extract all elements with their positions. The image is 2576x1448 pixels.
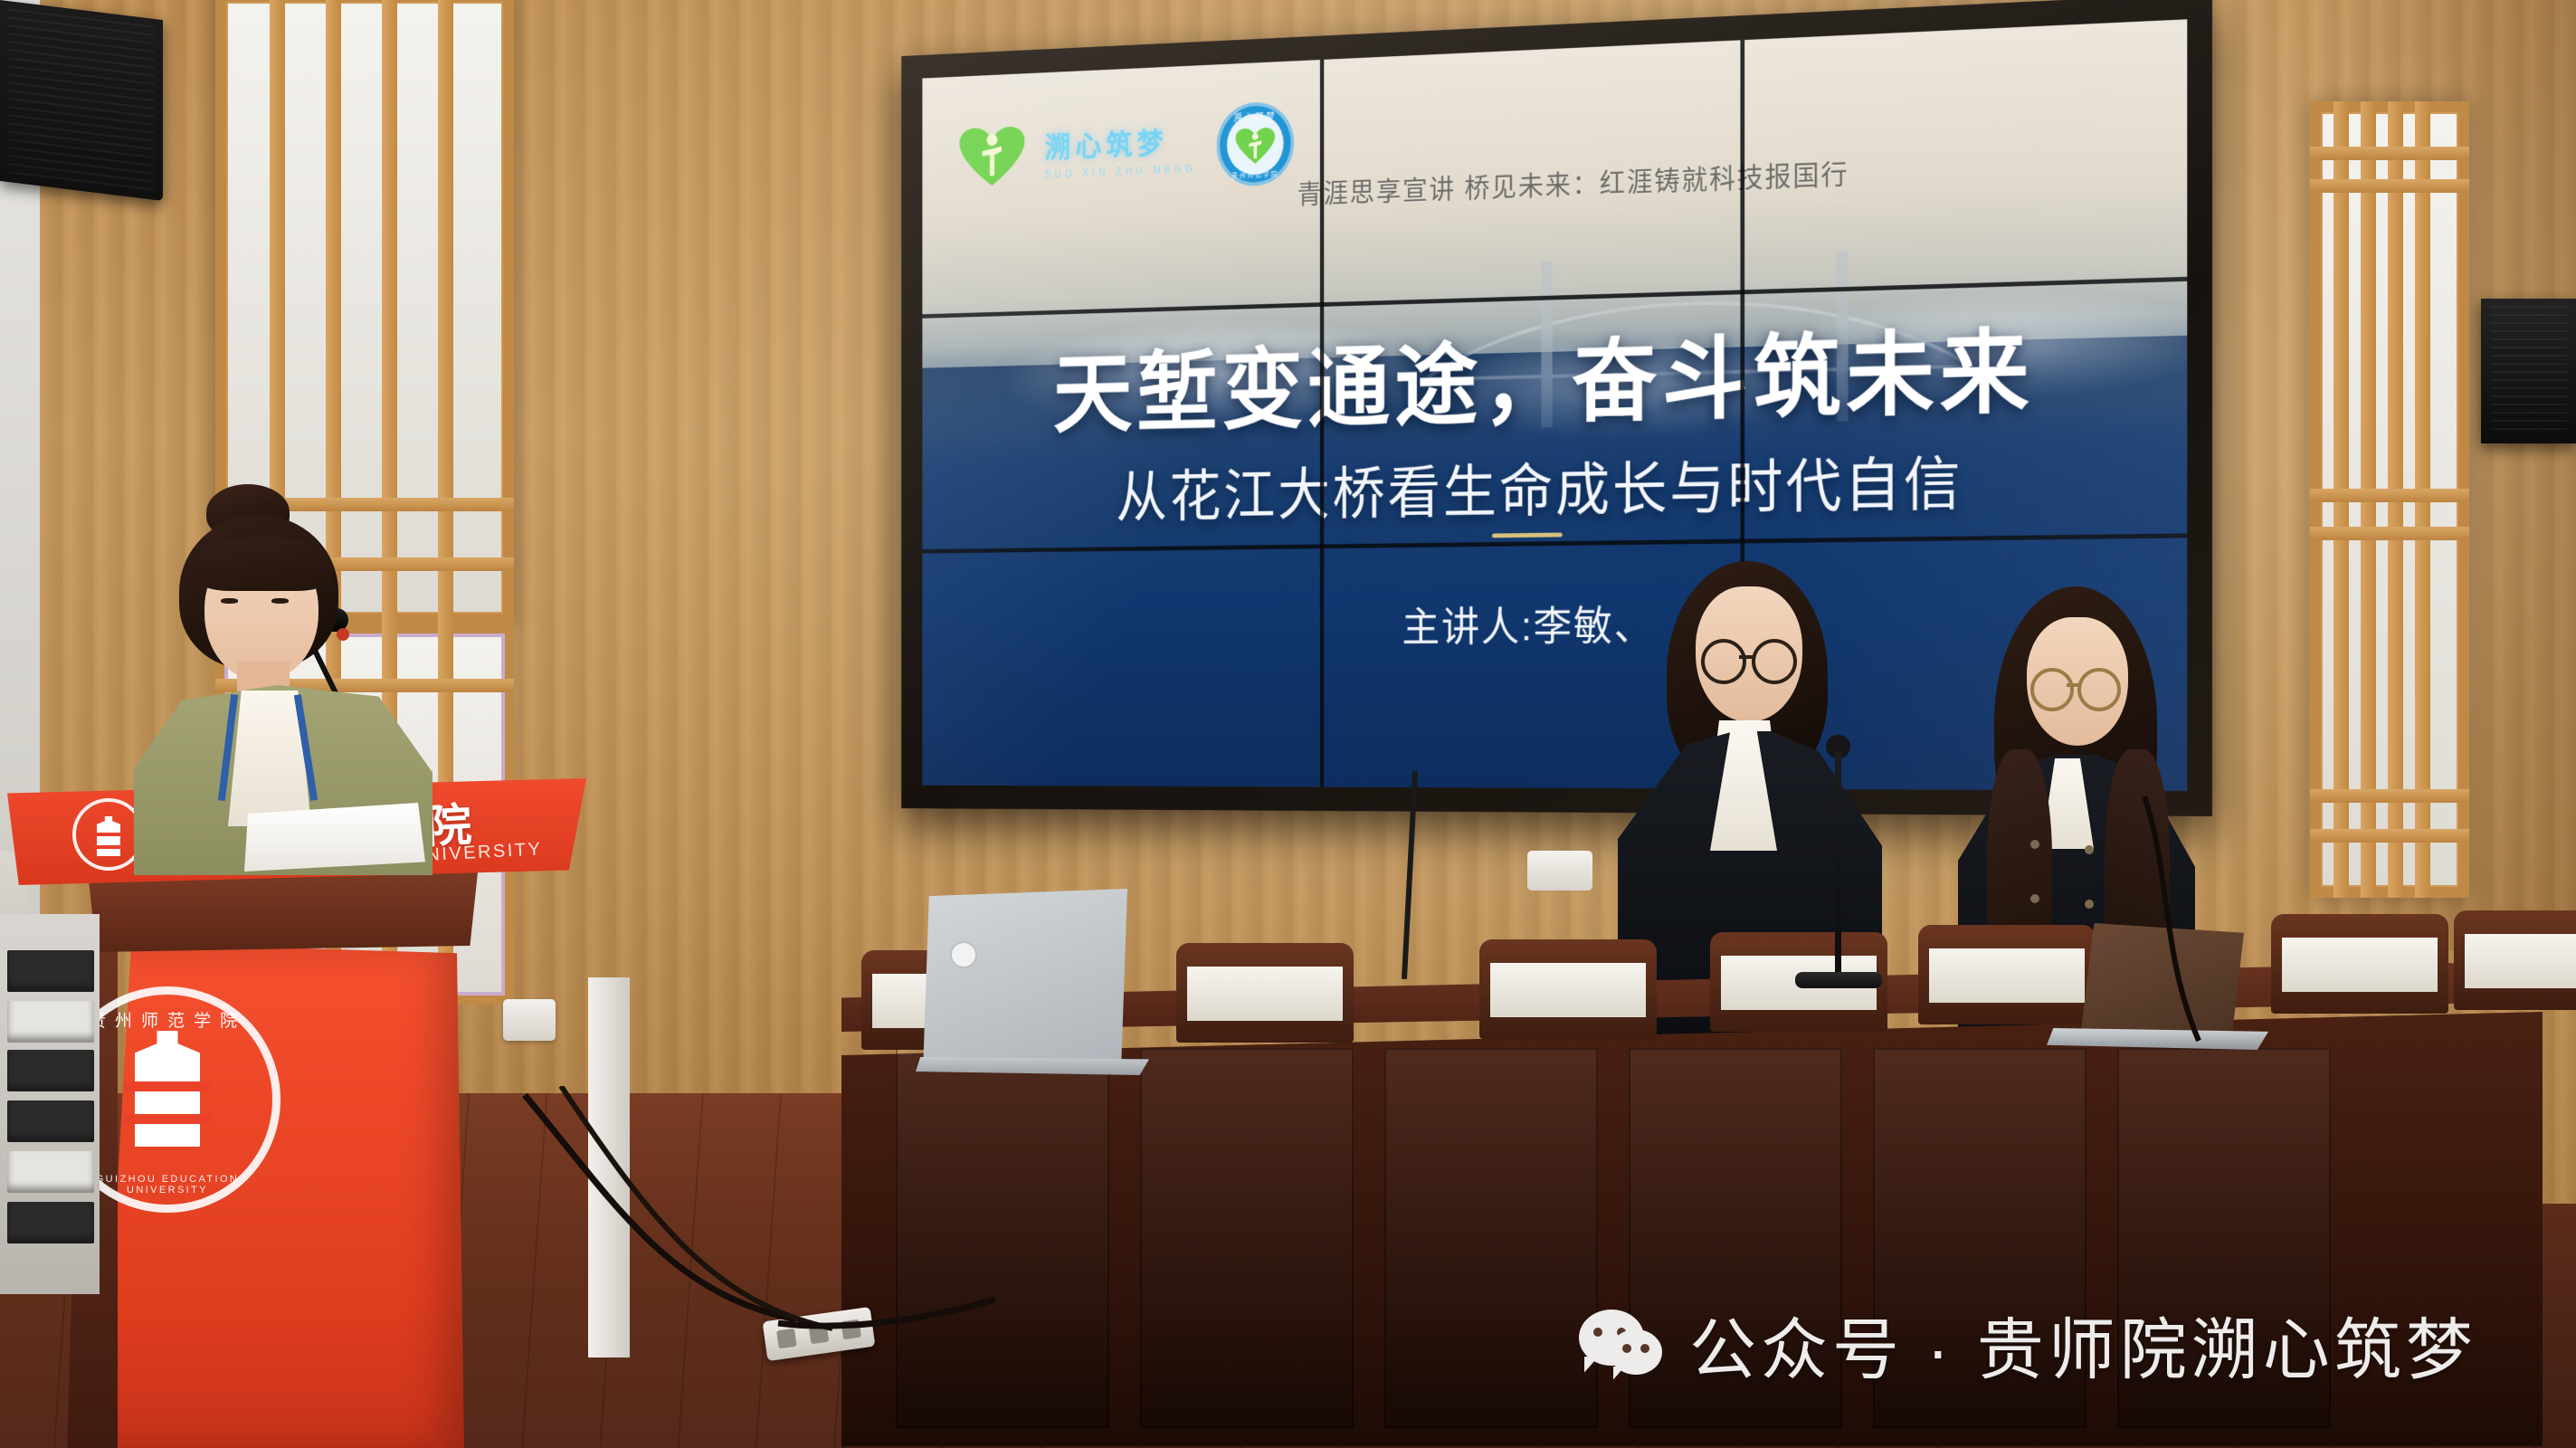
speech-papers [244, 803, 425, 872]
seal-bottom-text: 贵州师范学院 [1217, 169, 1294, 182]
wall-outlet[interactable] [1527, 851, 1592, 891]
chair [1918, 925, 2096, 1024]
wall-speaker-right [2481, 299, 2576, 443]
lecture-hall-photo: 溯心筑梦 SUO XIN ZHU MENG 溯心筑梦 贵州师范学院 青涯思享宣讲… [0, 0, 2576, 1448]
lattice-window-panel-right [2310, 101, 2469, 898]
floor-cables [507, 1086, 1013, 1385]
wall-speaker-left [0, 0, 163, 201]
speaker-grill [2490, 306, 2567, 436]
mic-cable [2135, 796, 2298, 1059]
podium-shelf [89, 872, 478, 952]
slide-logo-label: 溯心筑梦 [1044, 119, 1196, 166]
speaker-grill [9, 8, 154, 193]
seal-top-text: 溯心筑梦 [1217, 109, 1294, 126]
slide-logo-row: 溯心筑梦 SUO XIN ZHU MENG 溯心筑梦 贵州师范学院 [960, 100, 1295, 196]
slide-header-line: 青涯思享宣讲 桥见未来：红涯铸就科技报国行 [1298, 151, 1849, 211]
laptop-left[interactable] [923, 889, 1127, 1072]
slide-divider-rule [1492, 533, 1563, 538]
wechat-icon [1579, 1310, 1666, 1380]
table-microphone-stem [1835, 751, 1841, 977]
presenter-at-podium [109, 484, 452, 864]
circular-seal-logo-icon: 溯心筑梦 贵州师范学院 [1217, 100, 1294, 186]
laptop-logo-icon [952, 943, 975, 967]
equipment-rack [0, 914, 100, 1294]
slide-logo-pinyin: SUO XIN ZHU MENG [1044, 163, 1196, 181]
hair-fringe [195, 537, 331, 591]
heart-tree-logo-icon [960, 121, 1025, 189]
watermark: 公众号 · 贵师院溯心筑梦 [1579, 1296, 2477, 1393]
chair [1176, 943, 1354, 1043]
table-microphone-base [1795, 972, 1882, 988]
slide-title: 天堑变通途，奋斗筑未来 [922, 293, 2187, 452]
chair [2454, 910, 2576, 1010]
chair [1479, 939, 1657, 1039]
watermark-text: 公众号 · 贵师院溯心筑梦 [1689, 1296, 2477, 1393]
